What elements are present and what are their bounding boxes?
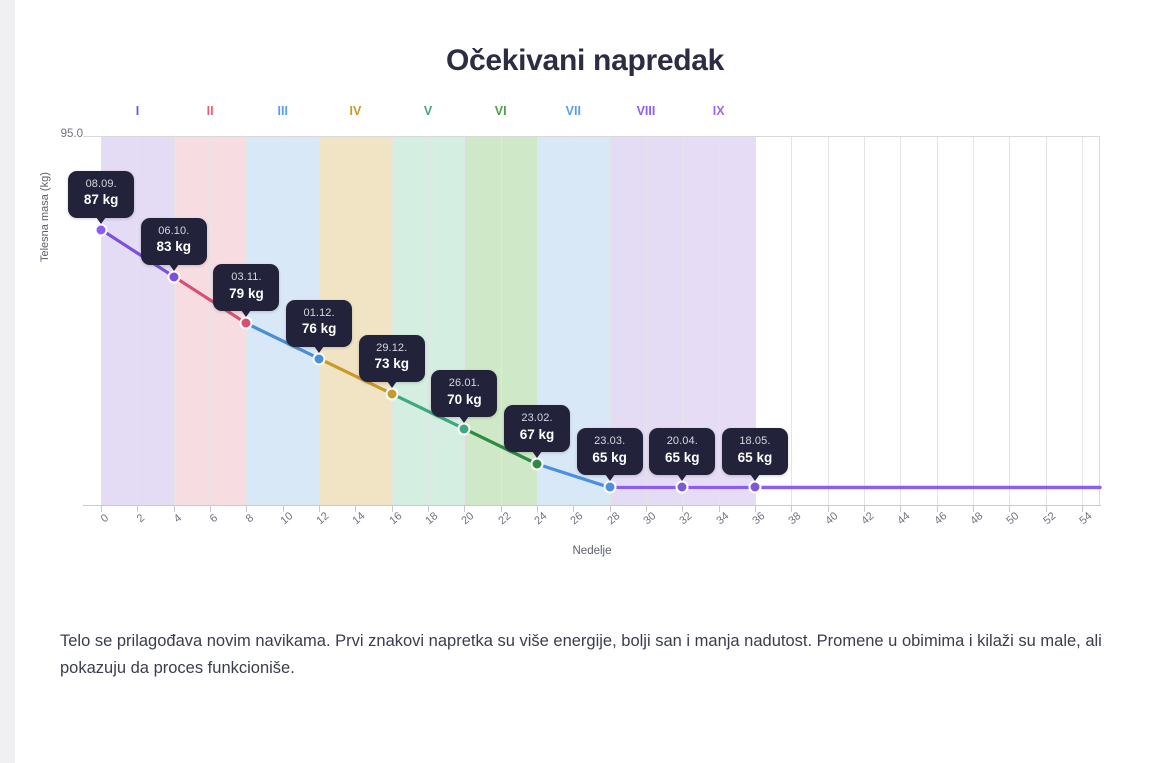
x-tick-label: 46 [932,510,949,527]
gridline [719,137,720,505]
tooltip-weight: 70 kg [441,391,487,409]
x-tick [937,506,938,512]
data-point-marker[interactable] [458,422,471,435]
data-point-marker[interactable] [167,270,180,283]
x-tick-label: 10 [278,510,295,527]
x-tick-label: 28 [605,510,622,527]
x-tick-label: 38 [787,510,804,527]
x-tick-label: 54 [1077,510,1094,527]
x-tick-label: 0 [99,512,111,525]
x-tick [392,506,393,512]
data-point-tooltip: 01.12.76 kg [286,300,352,347]
x-tick [610,506,611,512]
gridline [573,137,574,505]
tooltip-weight: 83 kg [151,238,197,256]
x-tick [1009,506,1010,512]
x-tick [501,506,502,512]
data-point-tooltip: 23.03.65 kg [577,428,643,475]
x-tick-label: 8 [244,512,256,525]
tooltip-weight: 65 kg [587,449,633,467]
x-axis-line [83,505,1101,506]
x-axis-title: Nedelje [83,545,1101,557]
x-tick-label: 26 [569,510,586,527]
gridline [501,137,502,505]
gridline [1046,137,1047,505]
tooltip-weight: 87 kg [78,191,124,209]
y-axis-title: Telesna masa (kg) [39,172,51,262]
gridline [210,137,211,505]
gridline [174,137,175,505]
data-point-tooltip: 08.09.87 kg [68,171,134,218]
x-tick-label: 2 [135,512,147,525]
tooltip-weight: 65 kg [732,449,778,467]
data-point-tooltip: 03.11.79 kg [213,264,279,311]
x-tick-label: 42 [859,510,876,527]
x-tick-label: 14 [351,510,368,527]
data-point-marker[interactable] [313,352,326,365]
data-point-tooltip: 18.05.65 kg [722,428,788,475]
x-tick [1046,506,1047,512]
gridline [900,137,901,505]
x-tick [537,506,538,512]
x-tick [464,506,465,512]
x-tick-label: 32 [678,510,695,527]
data-point-tooltip: 29.12.73 kg [359,335,425,382]
data-point-marker[interactable] [385,387,398,400]
x-tick-label: 34 [714,510,731,527]
x-tick [864,506,865,512]
x-tick-label: 48 [968,510,985,527]
gridline [937,137,938,505]
x-tick [682,506,683,512]
tooltip-weight: 73 kg [369,355,415,373]
gridline [1082,137,1083,505]
tooltip-date: 26.01. [441,377,487,391]
y-axis-top-tick: 95.0 [53,128,83,140]
x-tick-label: 12 [314,510,331,527]
tooltip-date: 23.02. [514,412,560,426]
x-tick-label: 40 [823,510,840,527]
data-point-marker[interactable] [531,458,544,471]
x-tick [101,506,102,512]
x-tick [791,506,792,512]
gridline [283,137,284,505]
gridline [137,137,138,505]
data-point-tooltip: 26.01.70 kg [431,370,497,417]
x-tick-label: 18 [423,510,440,527]
x-tick-label: 24 [532,510,549,527]
tooltip-date: 01.12. [296,307,342,321]
tooltip-date: 29.12. [369,342,415,356]
tooltip-date: 08.09. [78,178,124,192]
tooltip-weight: 65 kg [659,449,705,467]
x-tick [1082,506,1083,512]
data-point-tooltip: 06.10.83 kg [141,218,207,265]
x-tick [319,506,320,512]
data-point-tooltip: 20.04.65 kg [649,428,715,475]
x-tick-label: 4 [171,512,183,525]
data-point-tooltip: 23.02.67 kg [504,405,570,452]
gridline [428,137,429,505]
x-tick [828,506,829,512]
x-tick [174,506,175,512]
gridline [355,137,356,505]
x-tick-label: 30 [641,510,658,527]
tooltip-date: 23.03. [587,435,633,449]
tooltip-weight: 67 kg [514,426,560,444]
data-point-marker[interactable] [240,317,253,330]
x-tick-label: 52 [1041,510,1058,527]
x-tick-label: 50 [1004,510,1021,527]
x-tick-label: 44 [896,510,913,527]
x-tick [355,506,356,512]
gridline [1009,137,1010,505]
x-tick-label: 16 [387,510,404,527]
chart-card: Očekivani napredak IIIIIIIVVVIVIIVIIIIX … [15,0,1170,763]
x-tick [646,506,647,512]
tooltip-date: 18.05. [732,435,778,449]
tooltip-weight: 76 kg [296,320,342,338]
x-tick [755,506,756,512]
gridline [973,137,974,505]
data-point-marker[interactable] [603,481,616,494]
gridline [392,137,393,505]
x-tick [428,506,429,512]
x-tick-label: 22 [496,510,513,527]
x-tick-label: 6 [208,512,220,525]
tooltip-weight: 79 kg [223,285,269,303]
chart-plot: 95.0 Telesna masa (kg) Nedelje 024681012… [15,0,1170,600]
chart-caption: Telo se prilagođava novim navikama. Prvi… [60,628,1130,681]
x-tick [719,506,720,512]
x-tick [573,506,574,512]
x-tick-label: 36 [750,510,767,527]
x-tick [973,506,974,512]
gridline [464,137,465,505]
x-tick [283,506,284,512]
data-point-marker[interactable] [676,481,689,494]
gridline [791,137,792,505]
x-tick [210,506,211,512]
x-tick-label: 20 [460,510,477,527]
tooltip-date: 03.11. [223,271,269,285]
gridline [864,137,865,505]
gridline [646,137,647,505]
data-point-marker[interactable] [95,223,108,236]
x-tick [900,506,901,512]
tooltip-date: 20.04. [659,435,705,449]
gridline [828,137,829,505]
tooltip-date: 06.10. [151,225,197,239]
data-point-marker[interactable] [748,481,761,494]
